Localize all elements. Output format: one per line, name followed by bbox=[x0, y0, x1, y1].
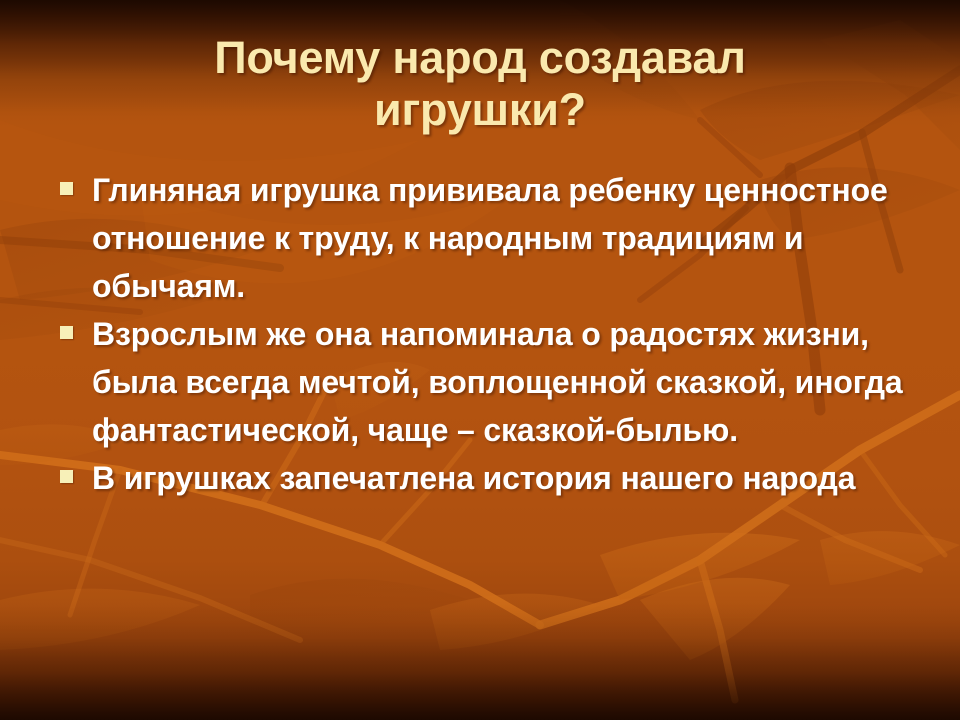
bullet-text: В игрушках запечатлена история нашего на… bbox=[92, 454, 942, 502]
list-item: В игрушках запечатлена история нашего на… bbox=[0, 454, 960, 502]
bullet-text: Взрослым же она напоминала о радостях жи… bbox=[92, 310, 942, 454]
list-item: Взрослым же она напоминала о радостях жи… bbox=[0, 310, 960, 454]
slide-content: Почему народ создавал игрушки? Глиняная … bbox=[0, 0, 960, 720]
bullet-text: Глиняная игрушка прививала ребенку ценно… bbox=[92, 166, 942, 310]
presentation-slide: Почему народ создавал игрушки? Глиняная … bbox=[0, 0, 960, 720]
list-item: Глиняная игрушка прививала ребенку ценно… bbox=[0, 166, 960, 310]
square-bullet-icon bbox=[60, 326, 73, 339]
square-bullet-icon bbox=[60, 470, 73, 483]
slide-title: Почему народ создавал игрушки? bbox=[60, 32, 900, 136]
bullet-list: Глиняная игрушка прививала ребенку ценно… bbox=[0, 166, 960, 502]
square-bullet-icon bbox=[60, 182, 73, 195]
